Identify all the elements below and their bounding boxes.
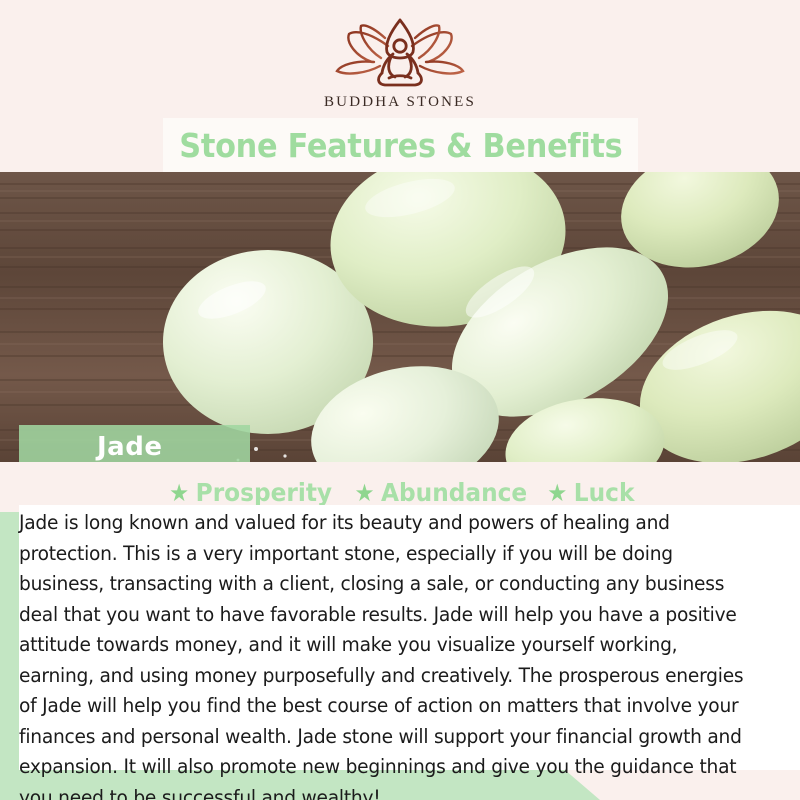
stone-name: Jade bbox=[97, 432, 162, 462]
page-title: Stone Features & Benefits bbox=[179, 126, 622, 165]
keyword-label: Prosperity bbox=[195, 478, 331, 507]
star-icon: ★ bbox=[354, 481, 374, 505]
keyword-label: Luck bbox=[573, 478, 634, 507]
brand-name: BUDDHA STONES bbox=[324, 94, 476, 111]
section-title-band: Stone Features & Benefits bbox=[163, 118, 638, 172]
brand-logo: BUDDHA STONES bbox=[0, 16, 800, 111]
keyword-luck: ★ Luck bbox=[547, 478, 634, 507]
keyword-prosperity: ★ Prosperity bbox=[169, 478, 332, 507]
star-icon: ★ bbox=[169, 481, 189, 505]
decor-band-left-text bbox=[0, 508, 19, 770]
lotus-meditation-figure-icon bbox=[325, 16, 475, 88]
stone-photo-illustration bbox=[0, 172, 800, 462]
keyword-label: Abundance bbox=[381, 478, 527, 507]
stone-photo bbox=[0, 172, 800, 462]
infographic-card: BUDDHA STONES Stone Features & Benefits bbox=[0, 0, 800, 800]
star-icon: ★ bbox=[547, 481, 567, 505]
keyword-list: ★ Prosperity ★ Abundance ★ Luck bbox=[0, 478, 800, 507]
keyword-abundance: ★ Abundance bbox=[354, 478, 527, 507]
description-text: Jade is long known and valued for its be… bbox=[19, 508, 752, 800]
